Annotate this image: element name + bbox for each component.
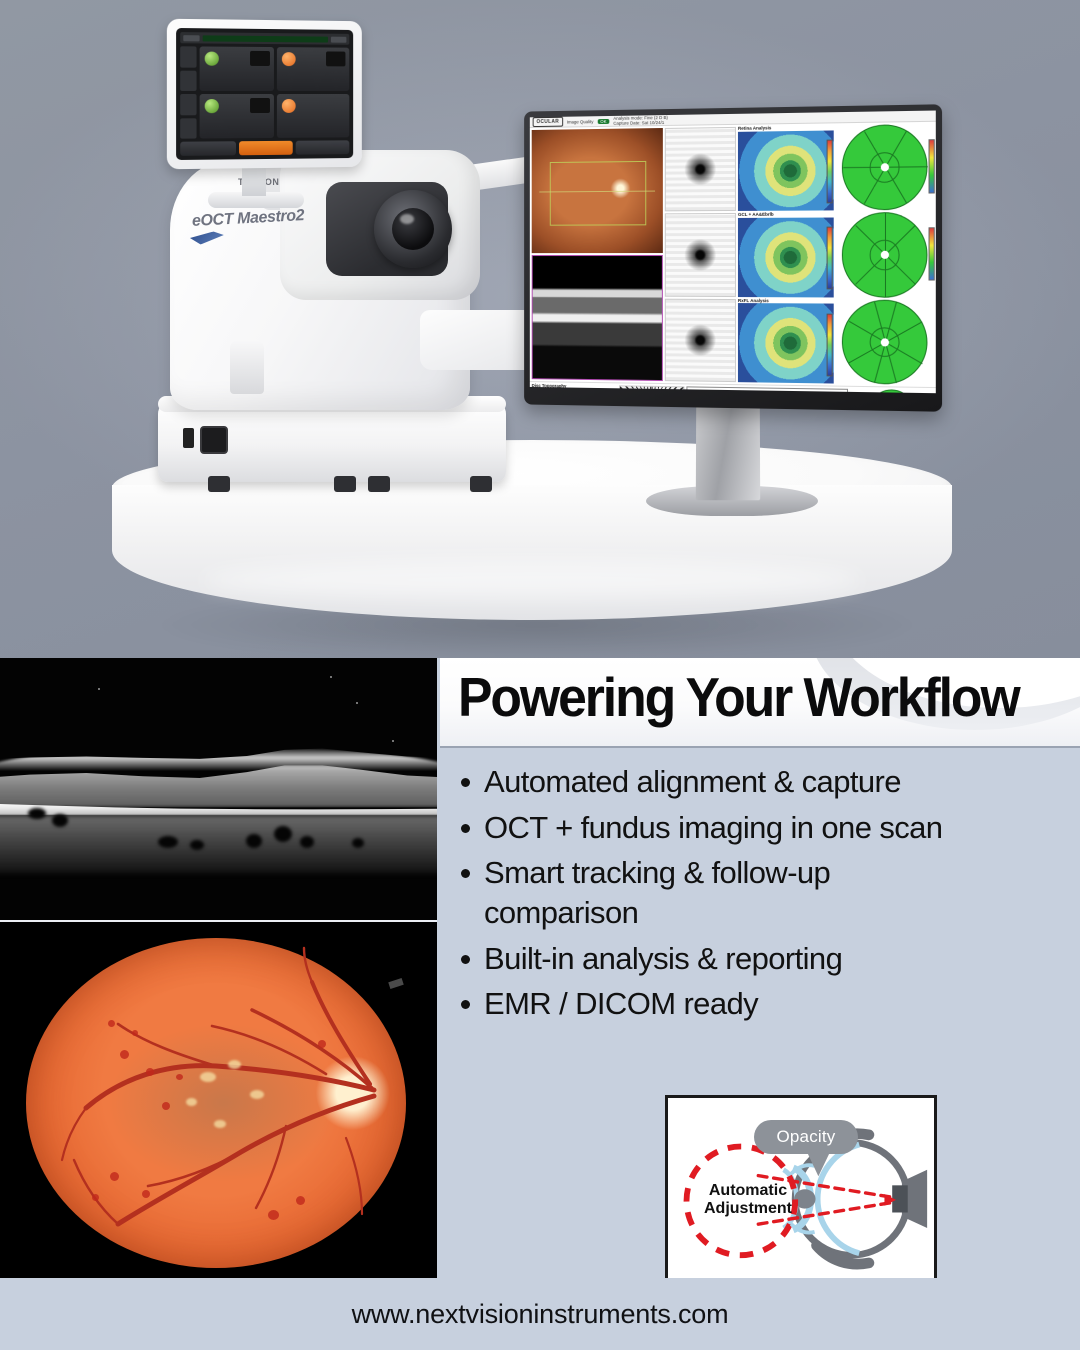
- fundus-preview[interactable]: [532, 128, 663, 253]
- podium-glow: [202, 560, 862, 600]
- retina-thickness-map[interactable]: [738, 130, 834, 211]
- review-monitor: OCULAR Image Quality OK Analysis mode: F…: [518, 108, 938, 508]
- website-url[interactable]: www.nextvisioninstruments.com: [352, 1299, 729, 1330]
- fundus-vessels: [26, 938, 406, 1268]
- touchscreen-tile[interactable]: [277, 94, 349, 138]
- tile-thumbnail: [250, 51, 270, 66]
- software-meta: Analysis mode: Fine (2 D B) Capture Date…: [613, 115, 668, 126]
- hero-section: TOPCON eOCT Maestro2: [0, 0, 1080, 658]
- oct-device: TOPCON eOCT Maestro2: [130, 10, 550, 510]
- tile-status-icon: [282, 99, 296, 113]
- joystick[interactable]: [230, 340, 264, 394]
- thickness-grid-map[interactable]: [665, 298, 736, 382]
- disc-topography-title: Disc Topography: [532, 384, 617, 390]
- touchscreen-left-button[interactable]: [180, 141, 235, 156]
- touchscreen-right-button[interactable]: [296, 140, 349, 154]
- sidebar-button[interactable]: [180, 70, 196, 91]
- sector-disc: [842, 299, 928, 385]
- objective-lens-inner: [392, 208, 434, 250]
- gcl-thickness-map[interactable]: [738, 217, 834, 297]
- disc-photo[interactable]: [619, 386, 684, 393]
- rnfl-tsnit-chart[interactable]: T S N I T: [686, 387, 848, 393]
- automatic-adjustment-label: Automatic Adjustment: [688, 1182, 808, 1219]
- touchscreen-topbar: [180, 32, 349, 45]
- tile-thumbnail: [326, 51, 345, 66]
- rnfl-summary: RNFL Average Thickness 107 µm: [850, 389, 933, 393]
- list-item: Built-in analysis & reporting: [461, 939, 1061, 979]
- software-body: Retina Analysis: [530, 122, 936, 387]
- lens-glint: [400, 214, 414, 224]
- sector-legend-icon: [929, 140, 935, 194]
- content-panel: Powering Your Workflow Automated alignme…: [437, 658, 1080, 1278]
- auto-adjustment-diagram: Opacity Automatic Adjustment: [665, 1095, 937, 1297]
- touchscreen-capture-button[interactable]: [239, 141, 293, 156]
- list-item: EMR / DICOM ready: [461, 984, 1061, 1024]
- power-switch-icon[interactable]: [183, 428, 194, 448]
- bullet-icon: [461, 1000, 470, 1009]
- row-label: Rim Area: [532, 390, 592, 393]
- color-scale-icon: [827, 227, 833, 290]
- monitor-screen[interactable]: OCULAR Image Quality OK Analysis mode: F…: [530, 111, 936, 394]
- tile-status-icon: [282, 52, 296, 66]
- color-scale-icon: [827, 313, 833, 376]
- clinical-image-column: [0, 658, 437, 1278]
- sidebar-button[interactable]: [180, 46, 196, 67]
- touchscreen-chip[interactable]: [331, 36, 347, 42]
- sidebar-button[interactable]: [180, 94, 196, 115]
- footer-bar: www.nextvisioninstruments.com: [0, 1278, 1080, 1350]
- sector-legend-icon: [929, 227, 935, 280]
- touchscreen-field[interactable]: [203, 35, 328, 42]
- bscan-surface-layer: [0, 747, 437, 771]
- bullet-icon: [461, 824, 470, 833]
- color-fundus-image: [0, 922, 437, 1278]
- thickness-grid-map[interactable]: [665, 127, 736, 211]
- row-value: 1.78: [593, 391, 617, 393]
- monitor-bezel: OCULAR Image Quality OK Analysis mode: F…: [524, 104, 942, 411]
- touchscreen-tile[interactable]: [200, 94, 274, 139]
- software-column-mid: [665, 127, 736, 382]
- thickness-grid-map[interactable]: [665, 213, 736, 297]
- bullet-icon: [461, 869, 470, 878]
- device-touchscreen[interactable]: [167, 19, 362, 170]
- retina-sector-chart[interactable]: [836, 124, 934, 210]
- page-title: Powering Your Workflow: [458, 670, 1019, 725]
- device-foot: [334, 476, 356, 492]
- scan-region-box: [550, 161, 646, 226]
- sector-disc: [842, 124, 928, 210]
- software-column-left: [532, 128, 663, 381]
- software-logo: OCULAR: [533, 117, 563, 127]
- bullet-icon: [461, 778, 470, 787]
- power-socket-icon: [200, 426, 228, 454]
- device-foot: [470, 476, 492, 492]
- touchscreen-chip[interactable]: [183, 35, 199, 41]
- sector-spoke: [884, 213, 885, 296]
- tile-status-icon: [205, 99, 219, 113]
- feature-text: Built-in analysis & reporting: [484, 939, 842, 979]
- monitor-stand: [696, 404, 760, 500]
- title-band: Powering Your Workflow: [440, 658, 1080, 748]
- touchscreen-mid: [180, 46, 349, 138]
- tile-thumbnail: [250, 98, 270, 113]
- color-scale-icon: [827, 140, 833, 203]
- oct-bscan-image: [0, 658, 437, 920]
- touchscreen-buttons: [180, 140, 349, 156]
- gcl-sector-chart[interactable]: [836, 212, 934, 298]
- touchscreen-tile[interactable]: [277, 47, 349, 91]
- list-item: OCT + fundus imaging in one scan: [461, 808, 1061, 848]
- sector-spoke: [843, 167, 927, 169]
- software-column-right: Retina Analysis: [738, 124, 934, 385]
- table-row: Rim Area 1.78: [532, 390, 617, 393]
- rnfl-sector-chart[interactable]: [836, 299, 934, 385]
- rnfl-thickness-map[interactable]: [738, 303, 834, 384]
- image-quality-label: Image Quality: [567, 119, 594, 124]
- touchscreen-tiles: [200, 46, 350, 138]
- feature-list: Automated alignment & capture OCT + fund…: [461, 762, 1061, 1030]
- device-foot: [368, 476, 390, 492]
- feature-text: Smart tracking & follow-up comparison: [484, 853, 904, 932]
- touchscreen-tile[interactable]: [200, 46, 274, 91]
- list-item: Automated alignment & capture: [461, 762, 1061, 802]
- sector-disc: [842, 212, 928, 298]
- sidebar-button[interactable]: [180, 118, 196, 139]
- feature-text: Automated alignment & capture: [484, 762, 901, 802]
- capture-date-label: Capture Date: Sat 10/24/1: [613, 120, 668, 126]
- opacity-callout: Opacity: [754, 1120, 858, 1154]
- bscan-preview[interactable]: [532, 255, 663, 382]
- list-item: Smart tracking & follow-up comparison: [461, 853, 1061, 932]
- feature-text: OCT + fundus imaging in one scan: [484, 808, 942, 848]
- bullet-icon: [461, 955, 470, 964]
- auto-adjustment-line2: Adjustment: [704, 1200, 792, 1217]
- status-badge: OK: [597, 119, 609, 124]
- disc-topography-table: Disc Topography Rim Area 1.78 Disc Area …: [532, 384, 617, 393]
- poster-root: TOPCON eOCT Maestro2: [0, 0, 1080, 1350]
- touchscreen-sidebar[interactable]: [180, 46, 196, 138]
- touchscreen-ui[interactable]: [176, 28, 353, 160]
- opacity-label: Opacity: [776, 1127, 835, 1147]
- device-foot: [208, 476, 230, 492]
- feature-text: EMR / DICOM ready: [484, 984, 758, 1024]
- rnfl-clock-chart[interactable]: [868, 390, 915, 394]
- bscan-inner-layer: [0, 765, 437, 807]
- tile-status-icon: [205, 52, 219, 66]
- auto-adjustment-line1: Automatic: [709, 1182, 787, 1199]
